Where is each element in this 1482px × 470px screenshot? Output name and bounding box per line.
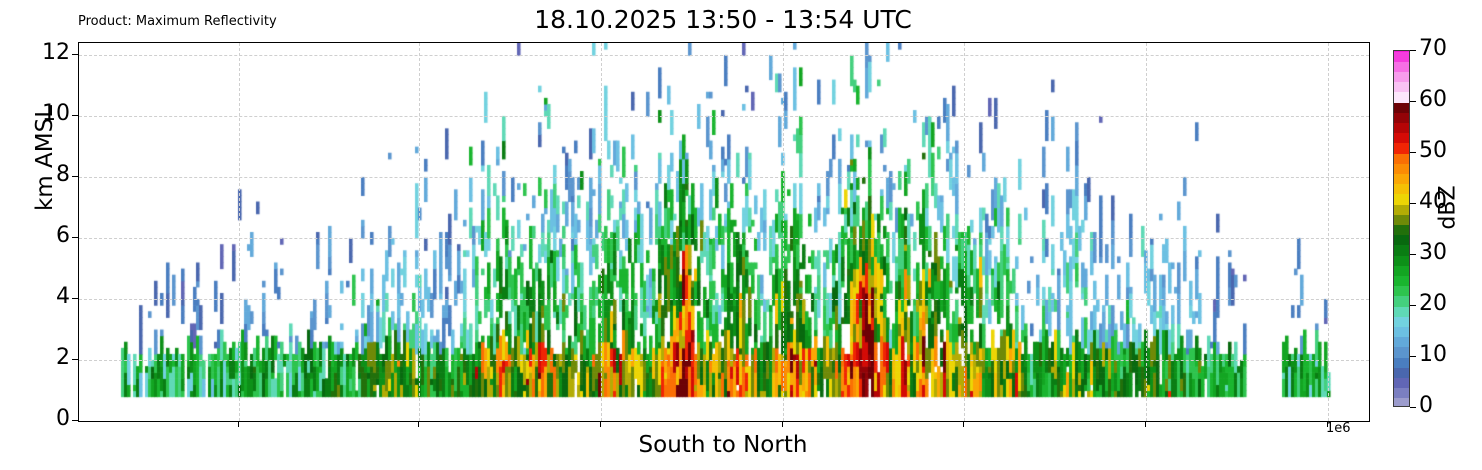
x-tick-mark [418,421,419,427]
y-tick-mark [72,420,78,421]
gridline-horizontal [79,177,1369,178]
y-tick-mark [72,359,78,360]
colorbar-segment [1394,82,1409,93]
x-tick-mark [238,421,239,427]
colorbar-segment [1394,337,1409,348]
gridline-vertical [419,43,420,421]
colorbar-segment [1394,275,1409,286]
colorbar-segment [1394,255,1409,266]
colorbar-segment [1394,112,1409,123]
colorbar-segment [1394,296,1409,307]
colorbar-segment [1394,122,1409,133]
colorbar-segment [1394,163,1409,174]
colorbar-segment [1394,173,1409,184]
colorbar-segment [1394,224,1409,235]
product-label: Product: Maximum Reflectivity [78,14,277,29]
colorbar-segment [1394,316,1409,327]
reflectivity-heatmap [79,43,1369,421]
y-tick-mark [72,115,78,116]
gridline-horizontal [79,299,1369,300]
gridline-horizontal [79,116,1369,117]
colorbar-segment [1394,214,1409,225]
gridline-horizontal [79,55,1369,56]
gridline-vertical [1328,43,1329,421]
gridline-vertical [1146,43,1147,421]
gridline-horizontal [79,421,1369,422]
x-tick-mark [782,421,783,427]
colorbar-segment [1394,235,1409,246]
colorbar-tick-label: 50 [1419,140,1447,162]
colorbar-segment [1394,153,1409,164]
figure: 18.10.2025 13:50 - 13:54 UTC Product: Ma… [0,0,1482,470]
colorbar-tick-label: 60 [1419,89,1447,111]
colorbar-tick-mark [1410,254,1416,255]
gridline-vertical [239,43,240,421]
y-tick-mark [72,298,78,299]
colorbar-segment [1394,51,1409,52]
colorbar-segment [1394,286,1409,297]
y-tick-label: 8 [56,164,70,186]
x-tick-mark [600,421,601,427]
colorbar-segment [1394,245,1409,256]
x-tick-mark [963,421,964,427]
colorbar-tick-label: 30 [1419,242,1447,264]
colorbar-segment [1394,71,1409,82]
x-axis-offset-label: 1e6 [1326,421,1351,436]
colorbar[interactable] [1393,50,1410,407]
colorbar-tick-mark [1410,203,1416,204]
colorbar-segment [1394,265,1409,276]
colorbar-tick-mark [1410,101,1416,102]
y-axis-label: km AMSL [32,73,58,243]
colorbar-tick-mark [1410,407,1416,408]
x-tick-mark [1327,421,1328,427]
colorbar-segment [1394,398,1409,407]
gridline-vertical [601,43,602,421]
gridline-vertical [964,43,965,421]
plot-area[interactable] [78,42,1370,422]
gridline-horizontal [79,360,1369,361]
colorbar-segment [1394,194,1409,205]
colorbar-tick-mark [1410,152,1416,153]
colorbar-tick-mark [1410,356,1416,357]
colorbar-segment [1394,51,1409,62]
x-tick-mark [1145,421,1146,427]
colorbar-tick-label: 10 [1419,344,1447,366]
gridline-vertical [783,43,784,421]
colorbar-tick-label: 20 [1419,293,1447,315]
colorbar-segment [1394,377,1409,388]
colorbar-tick-label: 40 [1419,191,1447,213]
colorbar-segment [1394,204,1409,215]
x-axis-label: South to North [78,432,1368,458]
colorbar-segment [1394,367,1409,378]
colorbar-segment [1394,133,1409,144]
y-tick-mark [72,237,78,238]
colorbar-segment [1394,347,1409,358]
colorbar-tick-mark [1410,305,1416,306]
y-tick-label: 2 [56,347,70,369]
colorbar-segment [1394,306,1409,317]
colorbar-segment [1394,61,1409,72]
colorbar-tick-label: 70 [1419,38,1447,60]
y-tick-mark [72,54,78,55]
colorbar-segment [1394,143,1409,154]
colorbar-segment [1394,357,1409,368]
y-tick-label: 6 [56,225,70,247]
colorbar-segment [1394,102,1409,113]
y-tick-label: 4 [56,286,70,308]
y-tick-label: 0 [56,408,70,430]
colorbar-segment [1394,326,1409,337]
colorbar-tick-label: 0 [1419,395,1433,417]
y-tick-mark [72,176,78,177]
y-tick-label: 10 [42,103,70,125]
colorbar-tick-mark [1410,50,1416,51]
colorbar-segment [1394,388,1409,399]
y-tick-label: 12 [42,42,70,64]
gridline-horizontal [79,238,1369,239]
colorbar-segment [1394,184,1409,195]
colorbar-segment [1394,92,1409,103]
